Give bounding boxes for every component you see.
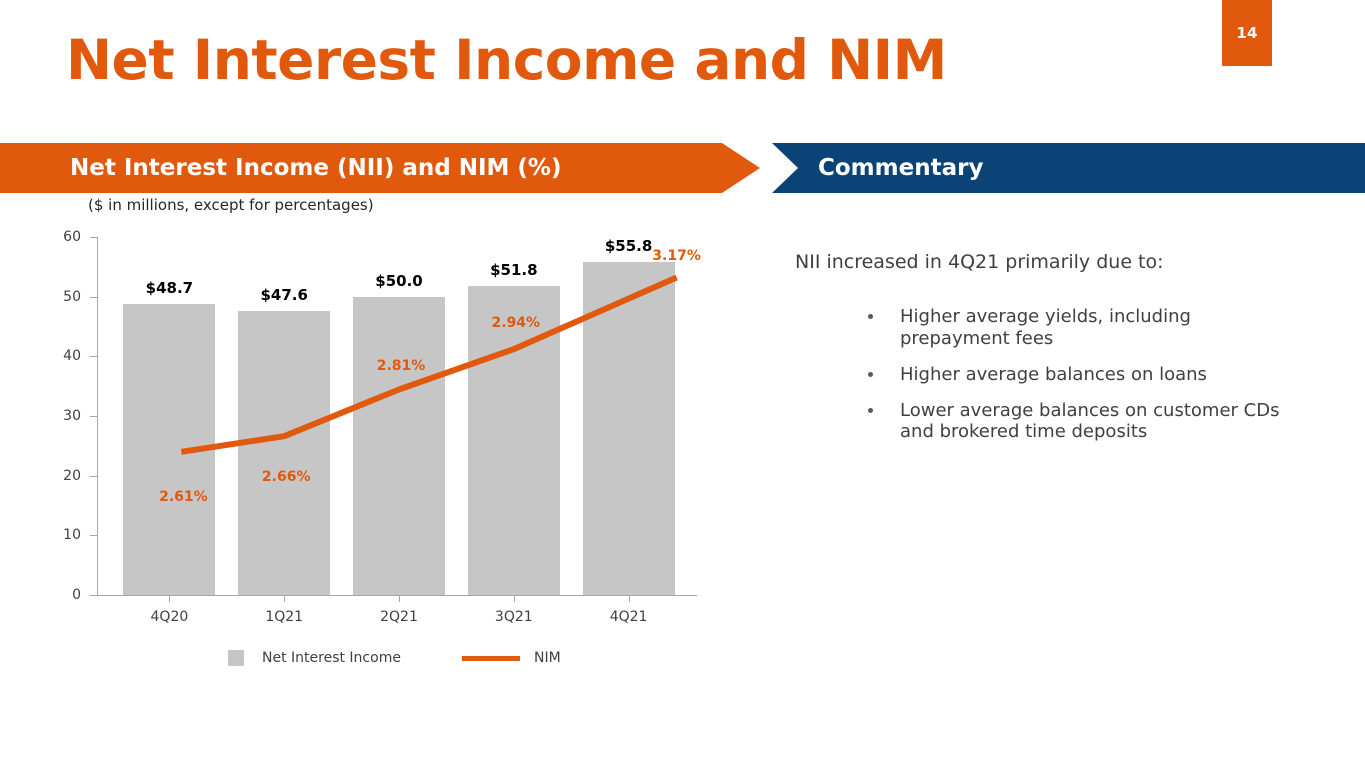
x-axis-tick [284, 595, 285, 602]
nii-nim-chart: 0102030405060$48.74Q20$47.61Q21$50.02Q21… [0, 225, 760, 685]
y-axis-tick [90, 297, 97, 298]
y-axis-tick [90, 535, 97, 536]
y-axis-label: 40 [63, 348, 81, 364]
commentary-bullet-text: Lower average balances on customer CDs a… [900, 400, 1279, 443]
x-axis-tick [629, 595, 630, 602]
nim-value-label: 2.94% [492, 315, 541, 331]
y-axis-label: 20 [63, 468, 81, 484]
banner-chart-label: Net Interest Income (NII) and NIM (%) [70, 143, 561, 193]
banner-commentary-section: Commentary [772, 143, 1365, 193]
legend-item-net-interest-income: Net Interest Income [228, 646, 401, 670]
y-axis-line [97, 237, 98, 595]
y-axis-tick [90, 595, 97, 596]
chart-units-note: ($ in millions, except for percentages) [88, 196, 374, 214]
y-axis-label: 10 [63, 527, 81, 543]
page-title: Net Interest Income and NIM [66, 28, 947, 92]
y-axis-label: 30 [63, 408, 81, 424]
y-axis-tick [90, 237, 97, 238]
y-axis-tick [90, 476, 97, 477]
y-axis-tick [90, 356, 97, 357]
legend-label-line: NIM [534, 650, 561, 666]
x-axis-label: 4Q20 [151, 609, 189, 625]
y-axis-label: 60 [63, 229, 81, 245]
nim-value-label: 2.61% [159, 489, 208, 505]
bullet-dot-icon [868, 314, 873, 319]
commentary-bullet: Lower average balances on customer CDs a… [795, 400, 1295, 444]
chart-bar [123, 304, 215, 595]
nim-value-label: 3.17% [652, 248, 701, 264]
x-axis-tick [514, 595, 515, 602]
page-number: 14 [1236, 24, 1257, 42]
legend-item-nim: NIM [462, 646, 561, 670]
page-number-badge: 14 [1222, 0, 1272, 66]
x-axis-label: 3Q21 [495, 609, 533, 625]
bullet-dot-icon [868, 408, 873, 413]
chart-bar [468, 286, 560, 595]
commentary-panel: NII increased in 4Q21 primarily due to: … [795, 250, 1295, 443]
commentary-bullet-text: Higher average yields, including prepaym… [900, 306, 1191, 349]
chart-bar [583, 262, 675, 595]
x-axis-tick [169, 595, 170, 602]
bar-value-label: $47.6 [260, 286, 307, 304]
legend-line-icon [462, 656, 520, 661]
bar-value-label: $55.8 [605, 237, 652, 255]
x-axis-label: 1Q21 [265, 609, 303, 625]
commentary-bullet: Higher average balances on loans [795, 364, 1295, 386]
bar-value-label: $50.0 [375, 272, 422, 290]
banner-chart-section: Net Interest Income (NII) and NIM (%) [0, 143, 760, 193]
x-axis-tick [399, 595, 400, 602]
bar-value-label: $48.7 [146, 279, 193, 297]
legend-swatch-icon [228, 650, 244, 666]
commentary-bullet-text: Higher average balances on loans [900, 364, 1207, 385]
nim-value-label: 2.81% [377, 358, 426, 374]
x-axis-line [97, 595, 697, 596]
x-axis-label: 4Q21 [610, 609, 648, 625]
section-banners: Net Interest Income (NII) and NIM (%) Co… [0, 143, 1365, 193]
commentary-bullet-list: Higher average yields, including prepaym… [795, 306, 1295, 444]
y-axis-tick [90, 416, 97, 417]
bullet-dot-icon [868, 372, 873, 377]
banner-commentary-label: Commentary [818, 143, 983, 193]
bar-value-label: $51.8 [490, 261, 537, 279]
chart-bar [238, 311, 330, 595]
y-axis-label: 50 [63, 289, 81, 305]
y-axis-label: 0 [72, 587, 81, 603]
chart-legend: Net Interest Income NIM [0, 646, 760, 670]
chart-bar [353, 297, 445, 595]
slide: 14 Net Interest Income and NIM Net Inter… [0, 0, 1365, 768]
nim-value-label: 2.66% [262, 469, 311, 485]
legend-label-bar: Net Interest Income [262, 650, 401, 666]
commentary-bullet: Higher average yields, including prepaym… [795, 306, 1295, 350]
commentary-lead-text: NII increased in 4Q21 primarily due to: [795, 250, 1295, 276]
x-axis-label: 2Q21 [380, 609, 418, 625]
